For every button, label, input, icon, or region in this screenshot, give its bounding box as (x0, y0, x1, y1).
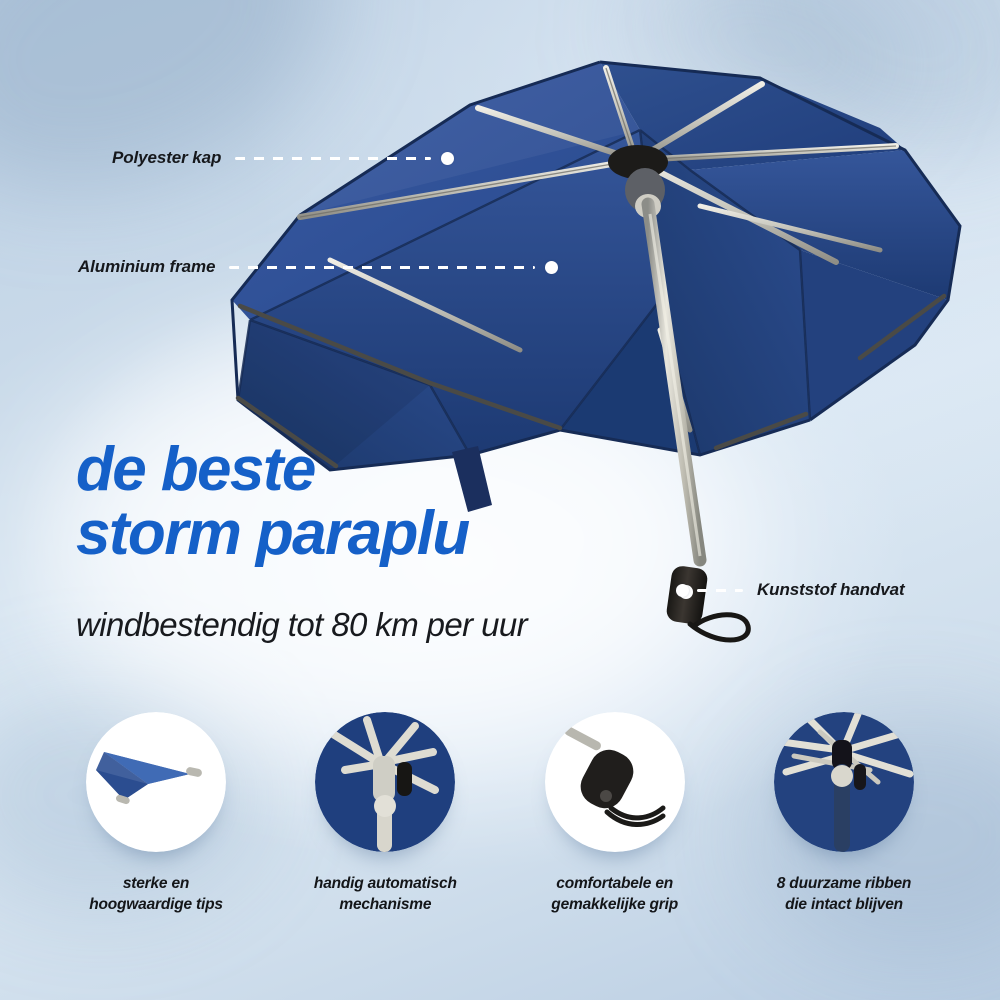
feature-caption-line-1: handig automatisch (314, 875, 457, 892)
callout-label: Kunststof handvat (757, 580, 905, 600)
feature-caption-line-2: mechanisme (339, 896, 431, 913)
umbrella-mechanism-icon (315, 712, 455, 852)
infographic-canvas: Polyester kap Aluminium frame Kunststof … (0, 0, 1000, 1000)
umbrella-handle-icon (545, 712, 685, 852)
callout-dot-marker (441, 152, 454, 165)
feature-caption: handig automatisch mechanisme (314, 874, 457, 916)
feature-caption: comfortabele en gemakkelijke grip (551, 874, 678, 916)
feature-caption-line-2: hoogwaardige tips (89, 896, 223, 913)
umbrella-ribs-icon (774, 712, 914, 852)
feature-caption-line-2: gemakkelijke grip (551, 896, 678, 913)
callout-dashed-line (229, 266, 535, 269)
headline-line-2: storm paraplu (76, 502, 716, 566)
callout-label: Aluminium frame (78, 257, 215, 277)
feature-caption-line-1: sterke en (123, 875, 189, 892)
feature-row: sterke en hoogwaardige tips (0, 712, 1000, 916)
headline-line-1: de beste (76, 438, 716, 502)
callout-kunststof-handvat: Kunststof handvat (676, 580, 905, 600)
subheadline: windbestendig tot 80 km per uur (76, 606, 527, 644)
feature-caption-line-1: 8 duurzame ribben (777, 875, 911, 892)
feature-caption-line-2: die intact blijven (785, 896, 903, 913)
feature-caption: sterke en hoogwaardige tips (89, 874, 223, 916)
feature-item-grip: comfortabele en gemakkelijke grip (517, 712, 713, 916)
callout-dashed-line (697, 589, 743, 592)
umbrella-tip-icon (86, 712, 226, 852)
callout-aluminium-frame: Aluminium frame (78, 257, 558, 277)
feature-item-mechanisme: handig automatisch mechanisme (287, 712, 483, 916)
feature-caption-line-1: comfortabele en (556, 875, 673, 892)
feature-item-ribben: 8 duurzame ribben die intact blijven (746, 712, 942, 916)
feature-item-tips: sterke en hoogwaardige tips (58, 712, 254, 916)
callout-dot-marker (676, 584, 689, 597)
callout-dot-marker (545, 261, 558, 274)
callout-label: Polyester kap (112, 148, 221, 168)
headline-block: de beste storm paraplu (76, 438, 716, 567)
feature-caption: 8 duurzame ribben die intact blijven (777, 874, 911, 916)
callout-polyester-kap: Polyester kap (112, 148, 454, 168)
callout-dashed-line (235, 157, 431, 160)
